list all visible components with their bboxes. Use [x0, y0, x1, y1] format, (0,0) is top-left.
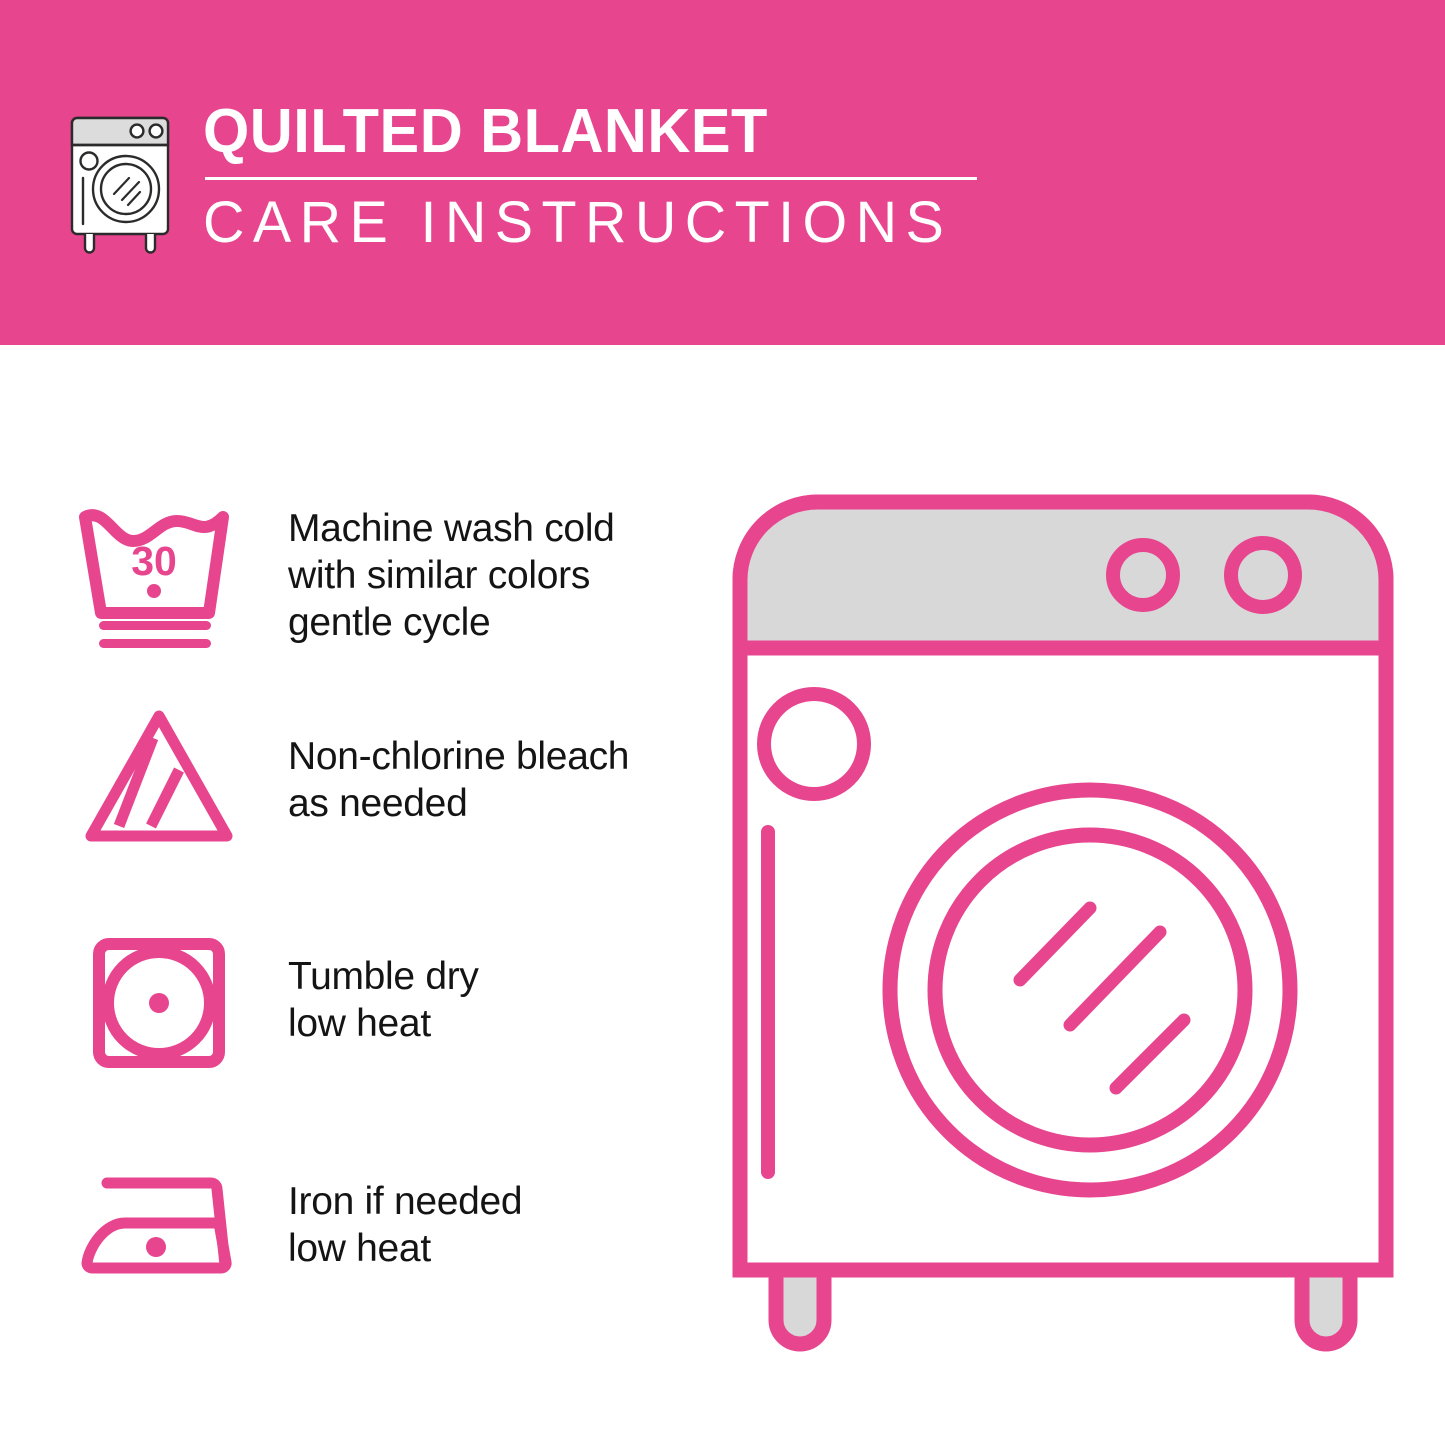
- machine-leg: [776, 1270, 824, 1344]
- care-line: gentle cycle: [288, 599, 615, 646]
- care-line: Tumble dry: [288, 953, 479, 1000]
- care-row-tumble-dry: Tumble dry low heat: [0, 910, 700, 1090]
- page-subtitle: CARE INSTRUCTIONS: [203, 190, 995, 256]
- care-text-bleach: Non-chlorine bleach as needed: [288, 733, 629, 827]
- care-text-iron: Iron if needed low heat: [288, 1178, 522, 1272]
- wash-temperature-label: 30: [131, 538, 177, 584]
- care-line: Machine wash cold: [288, 505, 615, 552]
- machine-wash-30-gentle-icon: 30: [58, 488, 258, 663]
- front-load-washing-machine-illustration: [718, 480, 1408, 1360]
- care-row-machine-wash: 30 Machine wash cold with similar colors…: [0, 485, 700, 665]
- title-divider: [205, 177, 977, 180]
- header-text-block: QUILTED BLANKET CARE INSTRUCTIONS: [203, 96, 1003, 256]
- care-text-machine-wash: Machine wash cold with similar colors ge…: [288, 505, 615, 646]
- washing-machine-icon: [58, 100, 188, 255]
- care-row-iron: Iron if needed low heat: [0, 1135, 700, 1315]
- care-line: as needed: [288, 780, 629, 827]
- header-banner: QUILTED BLANKET CARE INSTRUCTIONS: [0, 0, 1445, 345]
- tumble-dry-low-icon: [58, 913, 258, 1088]
- care-text-tumble-dry: Tumble dry low heat: [288, 953, 479, 1047]
- care-row-bleach: Non-chlorine bleach as needed: [0, 690, 700, 870]
- page-title: QUILTED BLANKET: [203, 96, 971, 168]
- care-line: low heat: [288, 1225, 522, 1272]
- non-chlorine-bleach-icon: [58, 693, 258, 868]
- care-line: low heat: [288, 1000, 479, 1047]
- care-line: Iron if needed: [288, 1178, 522, 1225]
- care-instruction-list: 30 Machine wash cold with similar colors…: [0, 345, 700, 1445]
- care-line: Non-chlorine bleach: [288, 733, 629, 780]
- care-instructions-page: QUILTED BLANKET CARE INSTRUCTIONS 30: [0, 0, 1445, 1445]
- machine-leg: [1302, 1270, 1350, 1344]
- iron-low-heat-icon: [58, 1138, 258, 1313]
- care-line: with similar colors: [288, 552, 615, 599]
